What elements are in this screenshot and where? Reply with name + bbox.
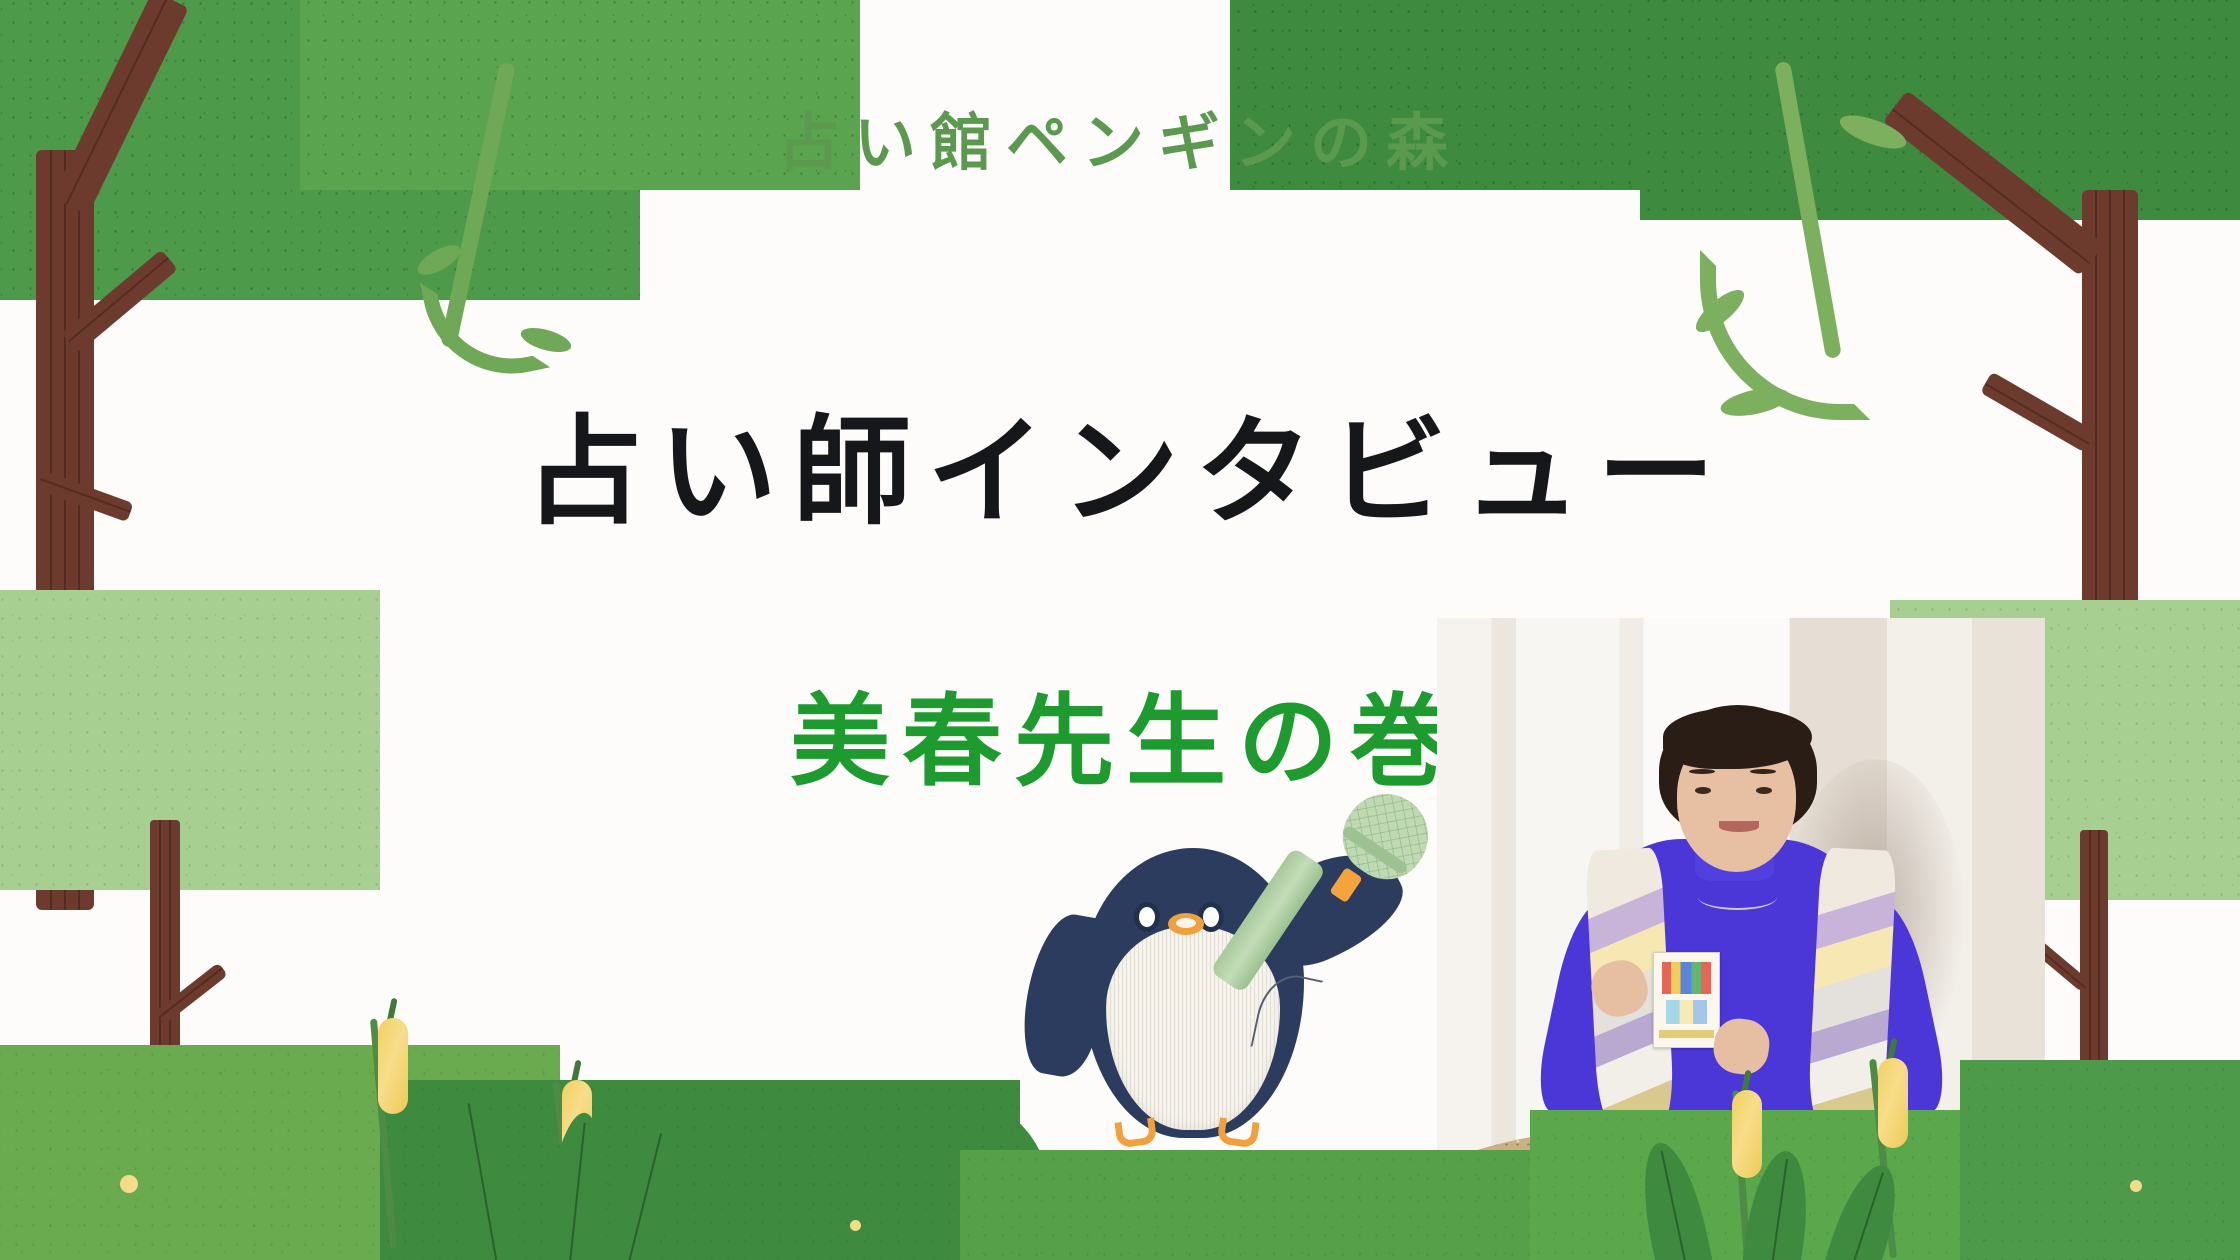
tree-left-canopy (0, 590, 380, 890)
tree-right-canopy (1640, 0, 2240, 220)
penguin-beak (1168, 913, 1204, 935)
bush-dot (2130, 1180, 2142, 1192)
penguin-foot-left (1114, 1117, 1157, 1148)
bush-dot (850, 1220, 861, 1231)
penguin-foot-right (1216, 1117, 1259, 1148)
photo-subject-eye-right (1756, 787, 1772, 794)
thumbnail-canvas: 占い館ペンギンの森 占い師インタビュー 美春先生の巻 (0, 0, 2240, 1260)
penguin-eye-left (1134, 902, 1160, 932)
photo-subject-brow-right (1750, 769, 1776, 774)
bush-dot (120, 1175, 138, 1193)
tree-right-branch-b (1980, 372, 2096, 453)
vine-top-center-curl (420, 260, 550, 390)
bush-center (960, 1150, 1580, 1260)
photo-subject-brow-left (1689, 769, 1715, 774)
page-title: 占い師インタビュー (0, 376, 2240, 547)
photo-subject-eye-left (1695, 787, 1711, 794)
cattail-left-a (378, 1018, 412, 1248)
photo-subject-mouth (1719, 821, 1759, 832)
microphone-switch (1329, 867, 1362, 903)
cattail-pod (1732, 1090, 1762, 1178)
cattail-pod (378, 1018, 408, 1114)
bush-far-right (1960, 1060, 2240, 1260)
microphone (1266, 796, 1436, 1010)
vine-right-leaf-b (1718, 383, 1791, 421)
tarot-card-held (1653, 952, 1720, 1048)
tree-top-center-canopy (300, 0, 860, 190)
cattail-pod (1878, 1058, 1908, 1148)
